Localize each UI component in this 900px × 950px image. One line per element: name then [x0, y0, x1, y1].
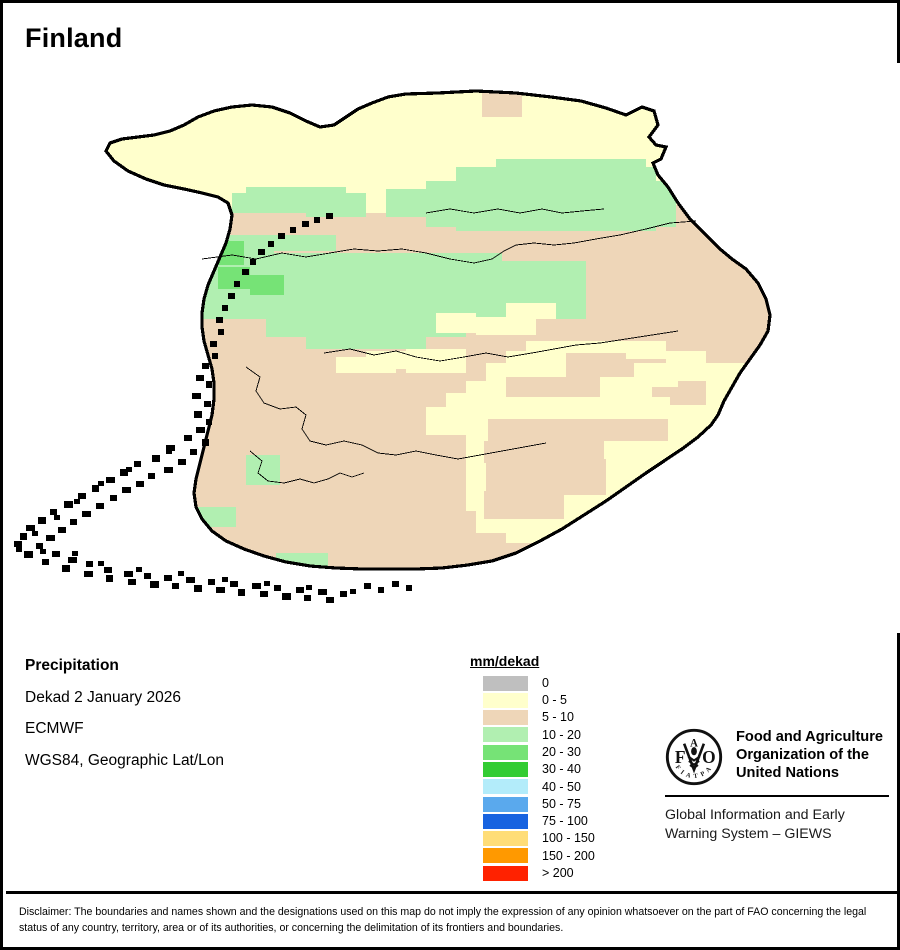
legend-label: 75 - 100 — [542, 815, 588, 828]
legend-row: 50 - 75 — [470, 796, 595, 812]
legend-row: 75 - 100 — [470, 813, 595, 829]
legend-swatch — [483, 866, 528, 881]
legend-row: 0 - 5 — [470, 692, 595, 708]
precipitation-map — [6, 63, 900, 633]
fao-branding: F O A F I A T P A N I S — [665, 728, 890, 844]
map-info-block: Precipitation Dekad 2 January 2026 ECMWF… — [25, 658, 425, 784]
legend-label: 40 - 50 — [542, 781, 581, 794]
legend-row: 40 - 50 — [470, 779, 595, 795]
info-variable: Precipitation — [25, 658, 425, 674]
legend-label: 30 - 40 — [542, 763, 581, 776]
legend-swatch — [483, 745, 528, 760]
legend-row: 10 - 20 — [470, 727, 595, 743]
legend-row: 0 — [470, 675, 595, 691]
legend-row: 5 - 10 — [470, 710, 595, 726]
legend-swatch — [483, 762, 528, 777]
legend-label: 5 - 10 — [542, 711, 574, 724]
info-period: Dekad 2 January 2026 — [25, 690, 425, 706]
legend-swatch — [483, 831, 528, 846]
legend-label: 150 - 200 — [542, 850, 595, 863]
legend-rows: 00 - 55 - 1010 - 2020 - 3030 - 4040 - 50… — [470, 675, 595, 881]
legend-swatch — [483, 814, 528, 829]
legend-swatch — [483, 676, 528, 691]
legend-label: 50 - 75 — [542, 798, 581, 811]
legend-label: 100 - 150 — [542, 832, 595, 845]
legend-label: 20 - 30 — [542, 746, 581, 759]
map-page: Finland — [0, 0, 900, 950]
legend-swatch — [483, 848, 528, 863]
legend-title: mm/dekad — [470, 653, 539, 669]
legend-row: 100 - 150 — [470, 831, 595, 847]
legend-swatch — [483, 779, 528, 794]
legend-row: 20 - 30 — [470, 744, 595, 760]
svg-text:F: F — [675, 747, 686, 767]
legend-swatch — [483, 693, 528, 708]
legend-label: 0 — [542, 677, 549, 690]
legend-label: 0 - 5 — [542, 694, 567, 707]
page-title: Finland — [25, 23, 122, 54]
info-source: ECMWF — [25, 721, 425, 737]
fao-logo-icon: F O A F I A T P A N I S — [665, 728, 723, 786]
legend-row: 30 - 40 — [470, 761, 595, 777]
legend-row: 150 - 200 — [470, 848, 595, 864]
disclaimer-divider — [6, 891, 900, 894]
legend-swatch — [483, 797, 528, 812]
fao-divider — [665, 795, 889, 797]
legend-label: > 200 — [542, 867, 574, 880]
legend-swatch — [483, 727, 528, 742]
disclaimer-text: Disclaimer: The boundaries and names sho… — [19, 905, 885, 937]
fao-system-name: Global Information and Early Warning Sys… — [665, 806, 890, 844]
info-projection: WGS84, Geographic Lat/Lon — [25, 753, 425, 769]
legend-row: > 200 — [470, 865, 595, 881]
legend-swatch — [483, 710, 528, 725]
legend: mm/dekad 00 - 55 - 1010 - 2020 - 3030 - … — [470, 653, 595, 883]
legend-label: 10 - 20 — [542, 729, 581, 742]
fao-organization-name: Food and Agriculture Organization of the… — [736, 728, 890, 782]
